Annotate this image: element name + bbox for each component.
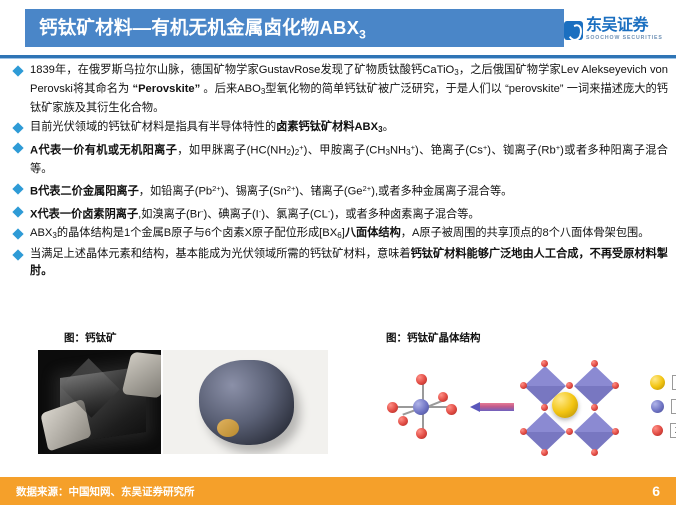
octahedron <box>574 386 616 406</box>
company-logo: 东吴证券 SOOCHOW SECURITIES <box>564 14 668 46</box>
bullet-x-site-text: X代表一价卤素阴离子,如溴离子(Br-)、碘离子(I-)、氯离子(CL-)，或者… <box>30 203 668 223</box>
legend-atom-b-icon <box>651 400 664 413</box>
legend-label-x: X <box>670 423 676 438</box>
diamond-bullet-icon <box>12 122 23 133</box>
octahedron <box>574 366 616 386</box>
slide-header: 钙钛矿材料—有机无机金属卤化物ABX3 东吴证券 SOOCHOW SECURIT… <box>0 0 676 56</box>
lattice-atom-x <box>520 382 527 389</box>
slide-footer: 数据来源：中国知网、东吴证券研究所 6 <box>0 477 676 505</box>
logo-english-name: SOOCHOW SECURITIES <box>586 36 663 41</box>
slide-title-bar: 钙钛矿材料—有机无机金属卤化物ABX3 <box>25 9 564 47</box>
figure-left-caption: 图：钙钛矿 <box>64 330 117 345</box>
lattice-atom-x <box>566 382 573 389</box>
bullet-x-site: X代表一价卤素阴离子,如溴离子(Br-)、碘离子(I-)、氯离子(CL-)，或者… <box>0 203 676 223</box>
legend-label-a: A <box>672 375 676 390</box>
bullet-conclusion: 当满足上述晶体元素和结构，基本能成为光伏领域所需的钙钛矿材料，意味着钙钛矿材料能… <box>0 246 676 280</box>
lattice-atom-x <box>612 428 619 435</box>
diagram-legend: A B X <box>650 370 676 442</box>
bullet-definition: 目前光伏领域的钙钛矿材料是指具有半导体特性的卤素钙钛矿材料ABX3。 <box>0 119 676 138</box>
diamond-bullet-icon <box>12 206 23 217</box>
page-title-subscript: 3 <box>359 28 366 42</box>
bullet-definition-text: 目前光伏领域的钙钛矿材料是指具有半导体特性的卤素钙钛矿材料ABX3。 <box>30 119 668 138</box>
page-number: 6 <box>652 483 676 499</box>
lattice-atom-x <box>541 449 548 456</box>
bullet-history-text: 1839年，在俄罗斯乌拉尔山脉，德国矿物学家GustavRose发现了矿物质钛酸… <box>30 62 668 117</box>
bx6-octahedron-unit <box>386 374 460 440</box>
header-divider-thin <box>0 58 676 59</box>
legend-atom-x-icon <box>652 425 663 436</box>
atom-x-bottom <box>416 428 427 439</box>
atom-x-left <box>387 402 398 413</box>
soochow-logo-icon <box>564 21 583 40</box>
mineral-crystal-grey <box>199 360 294 445</box>
logo-text-block: 东吴证券 SOOCHOW SECURITIES <box>586 18 663 41</box>
legend-label-b: B <box>671 399 676 414</box>
bullet-structure-text: ABX3的晶体结构是1个金属B原子与6个卤素X原子配位形成[BX6]八面体结构，… <box>30 225 668 244</box>
legend-item-x: X <box>650 418 676 442</box>
page-title: 钙钛矿材料—有机无机金属卤化物ABX3 <box>25 14 366 42</box>
lattice-atom-x <box>591 449 598 456</box>
atom-x-right <box>446 404 457 415</box>
lattice-atom-x <box>541 404 548 411</box>
lattice-atom-x <box>520 428 527 435</box>
perovskite-lattice <box>520 352 636 458</box>
atom-b-center <box>413 399 429 415</box>
bullet-a-site: A代表一价有机或无机阳离子，如甲脒离子(HC(NH2)2+)、甲胺离子(CH3N… <box>0 139 676 178</box>
octahedron <box>574 412 616 432</box>
perovskite-crystal-diagram: A B X <box>372 348 672 460</box>
expand-arrow-icon <box>470 402 514 412</box>
bullet-b-site-text: B代表二价金属阳离子，如铅离子(Pb2+)、锡离子(Sn2+)、锗离子(Ge2+… <box>30 180 668 200</box>
diamond-bullet-icon <box>12 229 23 240</box>
bullet-history: 1839年，在俄罗斯乌拉尔山脉，德国矿物学家GustavRose发现了矿物质钛酸… <box>0 62 676 117</box>
diamond-bullet-icon <box>12 65 23 76</box>
bullet-b-site: B代表二价金属阳离子，如铅离子(Pb2+)、锡离子(Sn2+)、锗离子(Ge2+… <box>0 180 676 200</box>
arrow-body <box>479 403 514 411</box>
figure-right-caption: 图：钙钛矿晶体结构 <box>386 330 481 345</box>
bullet-structure: ABX3的晶体结构是1个金属B原子与6个卤素X原子配位形成[BX6]八面体结构，… <box>0 225 676 244</box>
diamond-bullet-icon <box>12 143 23 154</box>
arrow-head <box>470 402 480 412</box>
diamond-bullet-icon <box>12 249 23 260</box>
perovskite-mineral-photo-1 <box>38 350 161 454</box>
octahedron <box>524 366 566 386</box>
lattice-atom-x <box>612 382 619 389</box>
atom-x-top <box>416 374 427 385</box>
diamond-bullet-icon <box>12 184 23 195</box>
atom-x-back <box>438 392 448 402</box>
page-title-main: 钙钛矿材料—有机无机金属卤化物ABX <box>39 17 359 38</box>
lattice-atom-x <box>541 360 548 367</box>
atom-x-front <box>398 416 408 426</box>
bullet-a-site-text: A代表一价有机或无机阳离子，如甲脒离子(HC(NH2)2+)、甲胺离子(CH3N… <box>30 139 668 178</box>
logo-chinese-name: 东吴证券 <box>586 18 663 34</box>
lattice-atom-x <box>591 404 598 411</box>
figures-area: 图：钙钛矿 图：钙钛矿晶体结构 <box>0 330 676 470</box>
data-source-label: 数据来源：中国知网、东吴证券研究所 <box>0 484 195 499</box>
bullet-conclusion-text: 当满足上述晶体元素和结构，基本能成为光伏领域所需的钙钛矿材料，意味着钙钛矿材料能… <box>30 246 668 280</box>
slide-body: 1839年，在俄罗斯乌拉尔山脉，德国矿物学家GustavRose发现了矿物质钛酸… <box>0 62 676 282</box>
atom-a-center <box>552 392 578 418</box>
lattice-atom-x <box>566 428 573 435</box>
legend-item-b: B <box>650 394 676 418</box>
legend-item-a: A <box>650 370 676 394</box>
legend-atom-a-icon <box>650 375 665 390</box>
perovskite-mineral-photo-2 <box>163 350 328 454</box>
lattice-atom-x <box>591 360 598 367</box>
